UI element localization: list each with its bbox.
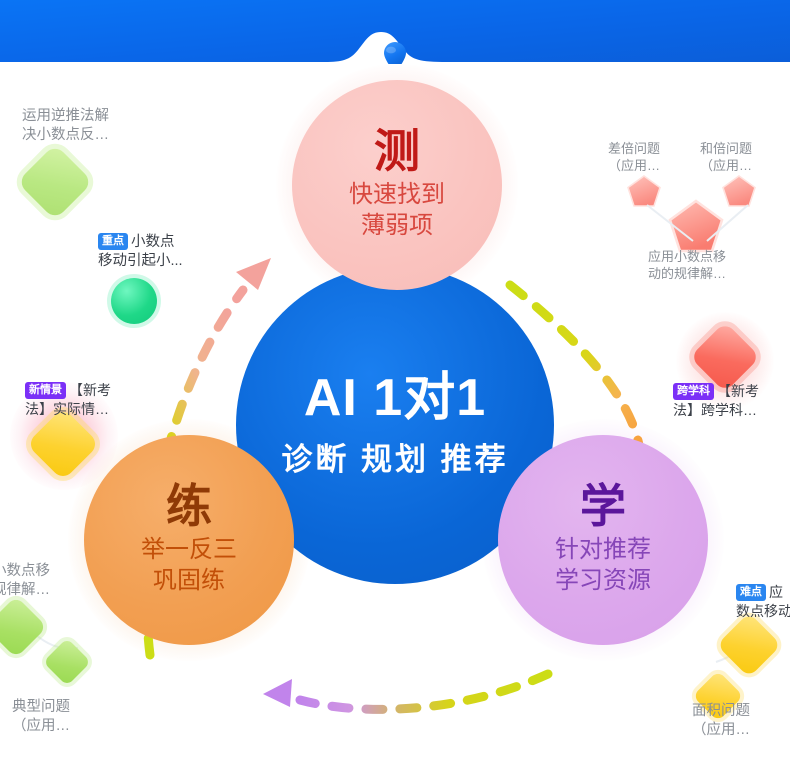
kp-key-point-label: 重点小数点 移动引起小...	[98, 233, 183, 272]
node-ce-desc: 快速找到 薄弱项	[349, 180, 445, 241]
arrow-path-bottom	[300, 674, 548, 709]
kp-new-scene[interactable]: 新情景【新考 法】实际情…	[25, 381, 111, 418]
node-xue-title: 学	[580, 483, 626, 529]
center-subtitle: 诊断 规划 推荐	[281, 434, 508, 479]
kp-bottom-left-rule-label: 小数点移 规律解…	[0, 562, 50, 601]
kp-bottom-left-rule[interactable]: 小数点移 规律解…	[0, 562, 50, 601]
badge-hard-point: 难点	[736, 584, 766, 601]
node-lian-title: 练	[166, 483, 212, 529]
kp-bottom-left-typical-label: 典型问题 （应用…	[12, 698, 70, 737]
node-lian-desc: 举一反三 巩固练	[141, 535, 237, 596]
kp-chabei[interactable]: 差倍问题 （应用…	[608, 140, 660, 175]
kp-hebei-label: 和倍问题 （应用…	[700, 140, 752, 175]
kp-top-left[interactable]: 运用逆推法解 决小数点反…	[22, 107, 109, 146]
badge-cross-subject: 跨学科	[673, 383, 714, 400]
node-circle-xue[interactable]: 学 针对推荐 学习资源	[498, 435, 708, 645]
infographic-page: AI 1对1 诊断 规划 推荐 测 快速找到 薄弱项 练 举一反三 巩固练 学 …	[0, 0, 790, 764]
badge-key-point: 重点	[98, 233, 128, 250]
center-title: AI 1对1	[304, 371, 486, 426]
node-circle-ce[interactable]: 测 快速找到 薄弱项	[292, 80, 502, 290]
badge-new-scene: 新情景	[25, 382, 66, 399]
kp-bottom-left-typical[interactable]: 典型问题 （应用…	[12, 698, 70, 737]
node-xue-desc: 针对推荐 学习资源	[555, 535, 651, 596]
arrow-head-up-right	[236, 258, 271, 290]
kp-hard-point-label: 难点应 数点移动	[736, 583, 790, 620]
kp-bottom-right-area[interactable]: 面积问题 （应用…	[692, 702, 750, 741]
kp-hard-point[interactable]: 难点应 数点移动	[736, 583, 790, 620]
kp-top-right-main[interactable]: 应用小数点移 动的规律解…	[648, 248, 726, 283]
kp-key-point[interactable]: 重点小数点 移动引起小...	[98, 233, 183, 272]
node-circle-lian[interactable]: 练 举一反三 巩固练	[84, 435, 294, 645]
kp-hebei[interactable]: 和倍问题 （应用…	[700, 140, 752, 175]
kp-cross-subject-label: 跨学科【新考 法】跨学科…	[673, 382, 759, 419]
kp-cross-subject[interactable]: 跨学科【新考 法】跨学科…	[673, 382, 759, 419]
kp-top-left-label: 运用逆推法解 决小数点反…	[22, 107, 109, 146]
kp-bottom-right-area-label: 面积问题 （应用…	[692, 702, 750, 741]
kp-top-right-main-label: 应用小数点移 动的规律解…	[648, 248, 726, 283]
arrow-head-left	[263, 679, 292, 707]
node-ce-title: 测	[374, 128, 420, 174]
kp-chabei-label: 差倍问题 （应用…	[608, 140, 660, 175]
kp-new-scene-label: 新情景【新考 法】实际情…	[25, 381, 111, 418]
